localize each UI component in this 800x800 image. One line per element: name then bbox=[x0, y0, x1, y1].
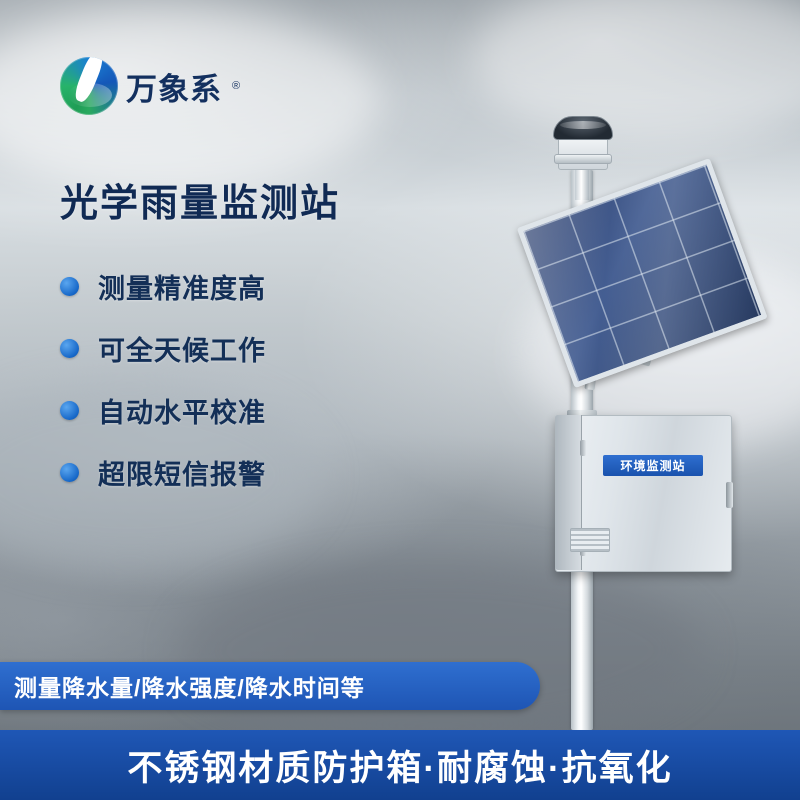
cabinet-label-text: 环境监测站 bbox=[620, 457, 685, 474]
green-blue-swirl-logo-icon bbox=[60, 57, 118, 115]
optical-rain-sensor-icon bbox=[553, 116, 613, 140]
solar-panel-icon bbox=[517, 158, 768, 388]
cabinet-hinge-top-icon bbox=[580, 440, 586, 456]
bottom-banner-text: 不锈钢材质防护箱·耐腐蚀·抗氧化 bbox=[127, 740, 672, 791]
blue-dot-icon bbox=[60, 401, 79, 420]
brand-name: 万象系 bbox=[126, 64, 222, 109]
product-poster: 环境监测站 万象系 ® 光学雨量监测站 测量精准度高 可全天候工作 自动水平校准… bbox=[0, 0, 800, 800]
cabinet-label-plate: 环境监测站 bbox=[603, 455, 703, 476]
feature-list: 测量精准度高 可全天候工作 自动水平校准 超限短信报警 bbox=[60, 255, 266, 503]
feature-label: 超限短信报警 bbox=[98, 453, 266, 492]
feature-label: 测量精准度高 bbox=[98, 267, 266, 306]
registered-mark: ® bbox=[232, 80, 240, 92]
sensor-base-ring-icon bbox=[554, 154, 612, 164]
blue-dot-icon bbox=[60, 277, 79, 296]
page-title: 光学雨量监测站 bbox=[60, 172, 340, 227]
cabinet-latch-icon bbox=[726, 482, 733, 508]
solar-panel-glare-icon bbox=[523, 165, 761, 382]
blue-dot-icon bbox=[60, 463, 79, 482]
list-item: 可全天候工作 bbox=[60, 317, 266, 379]
cabinet-vent-icon bbox=[570, 528, 610, 552]
weather-station-illustration: 环境监测站 bbox=[470, 110, 800, 690]
bottom-banner: 不锈钢材质防护箱·耐腐蚀·抗氧化 bbox=[0, 730, 800, 800]
feature-label: 可全天候工作 bbox=[98, 329, 266, 368]
list-item: 自动水平校准 bbox=[60, 379, 266, 441]
blue-dot-icon bbox=[60, 339, 79, 358]
list-item: 测量精准度高 bbox=[60, 255, 266, 317]
feature-label: 自动水平校准 bbox=[98, 391, 266, 430]
brand-logo: 万象系 ® bbox=[60, 57, 240, 115]
list-item: 超限短信报警 bbox=[60, 441, 266, 503]
middle-banner: 测量降水量/降水强度/降水时间等 bbox=[0, 662, 540, 710]
middle-banner-text: 测量降水量/降水强度/降水时间等 bbox=[14, 669, 365, 703]
